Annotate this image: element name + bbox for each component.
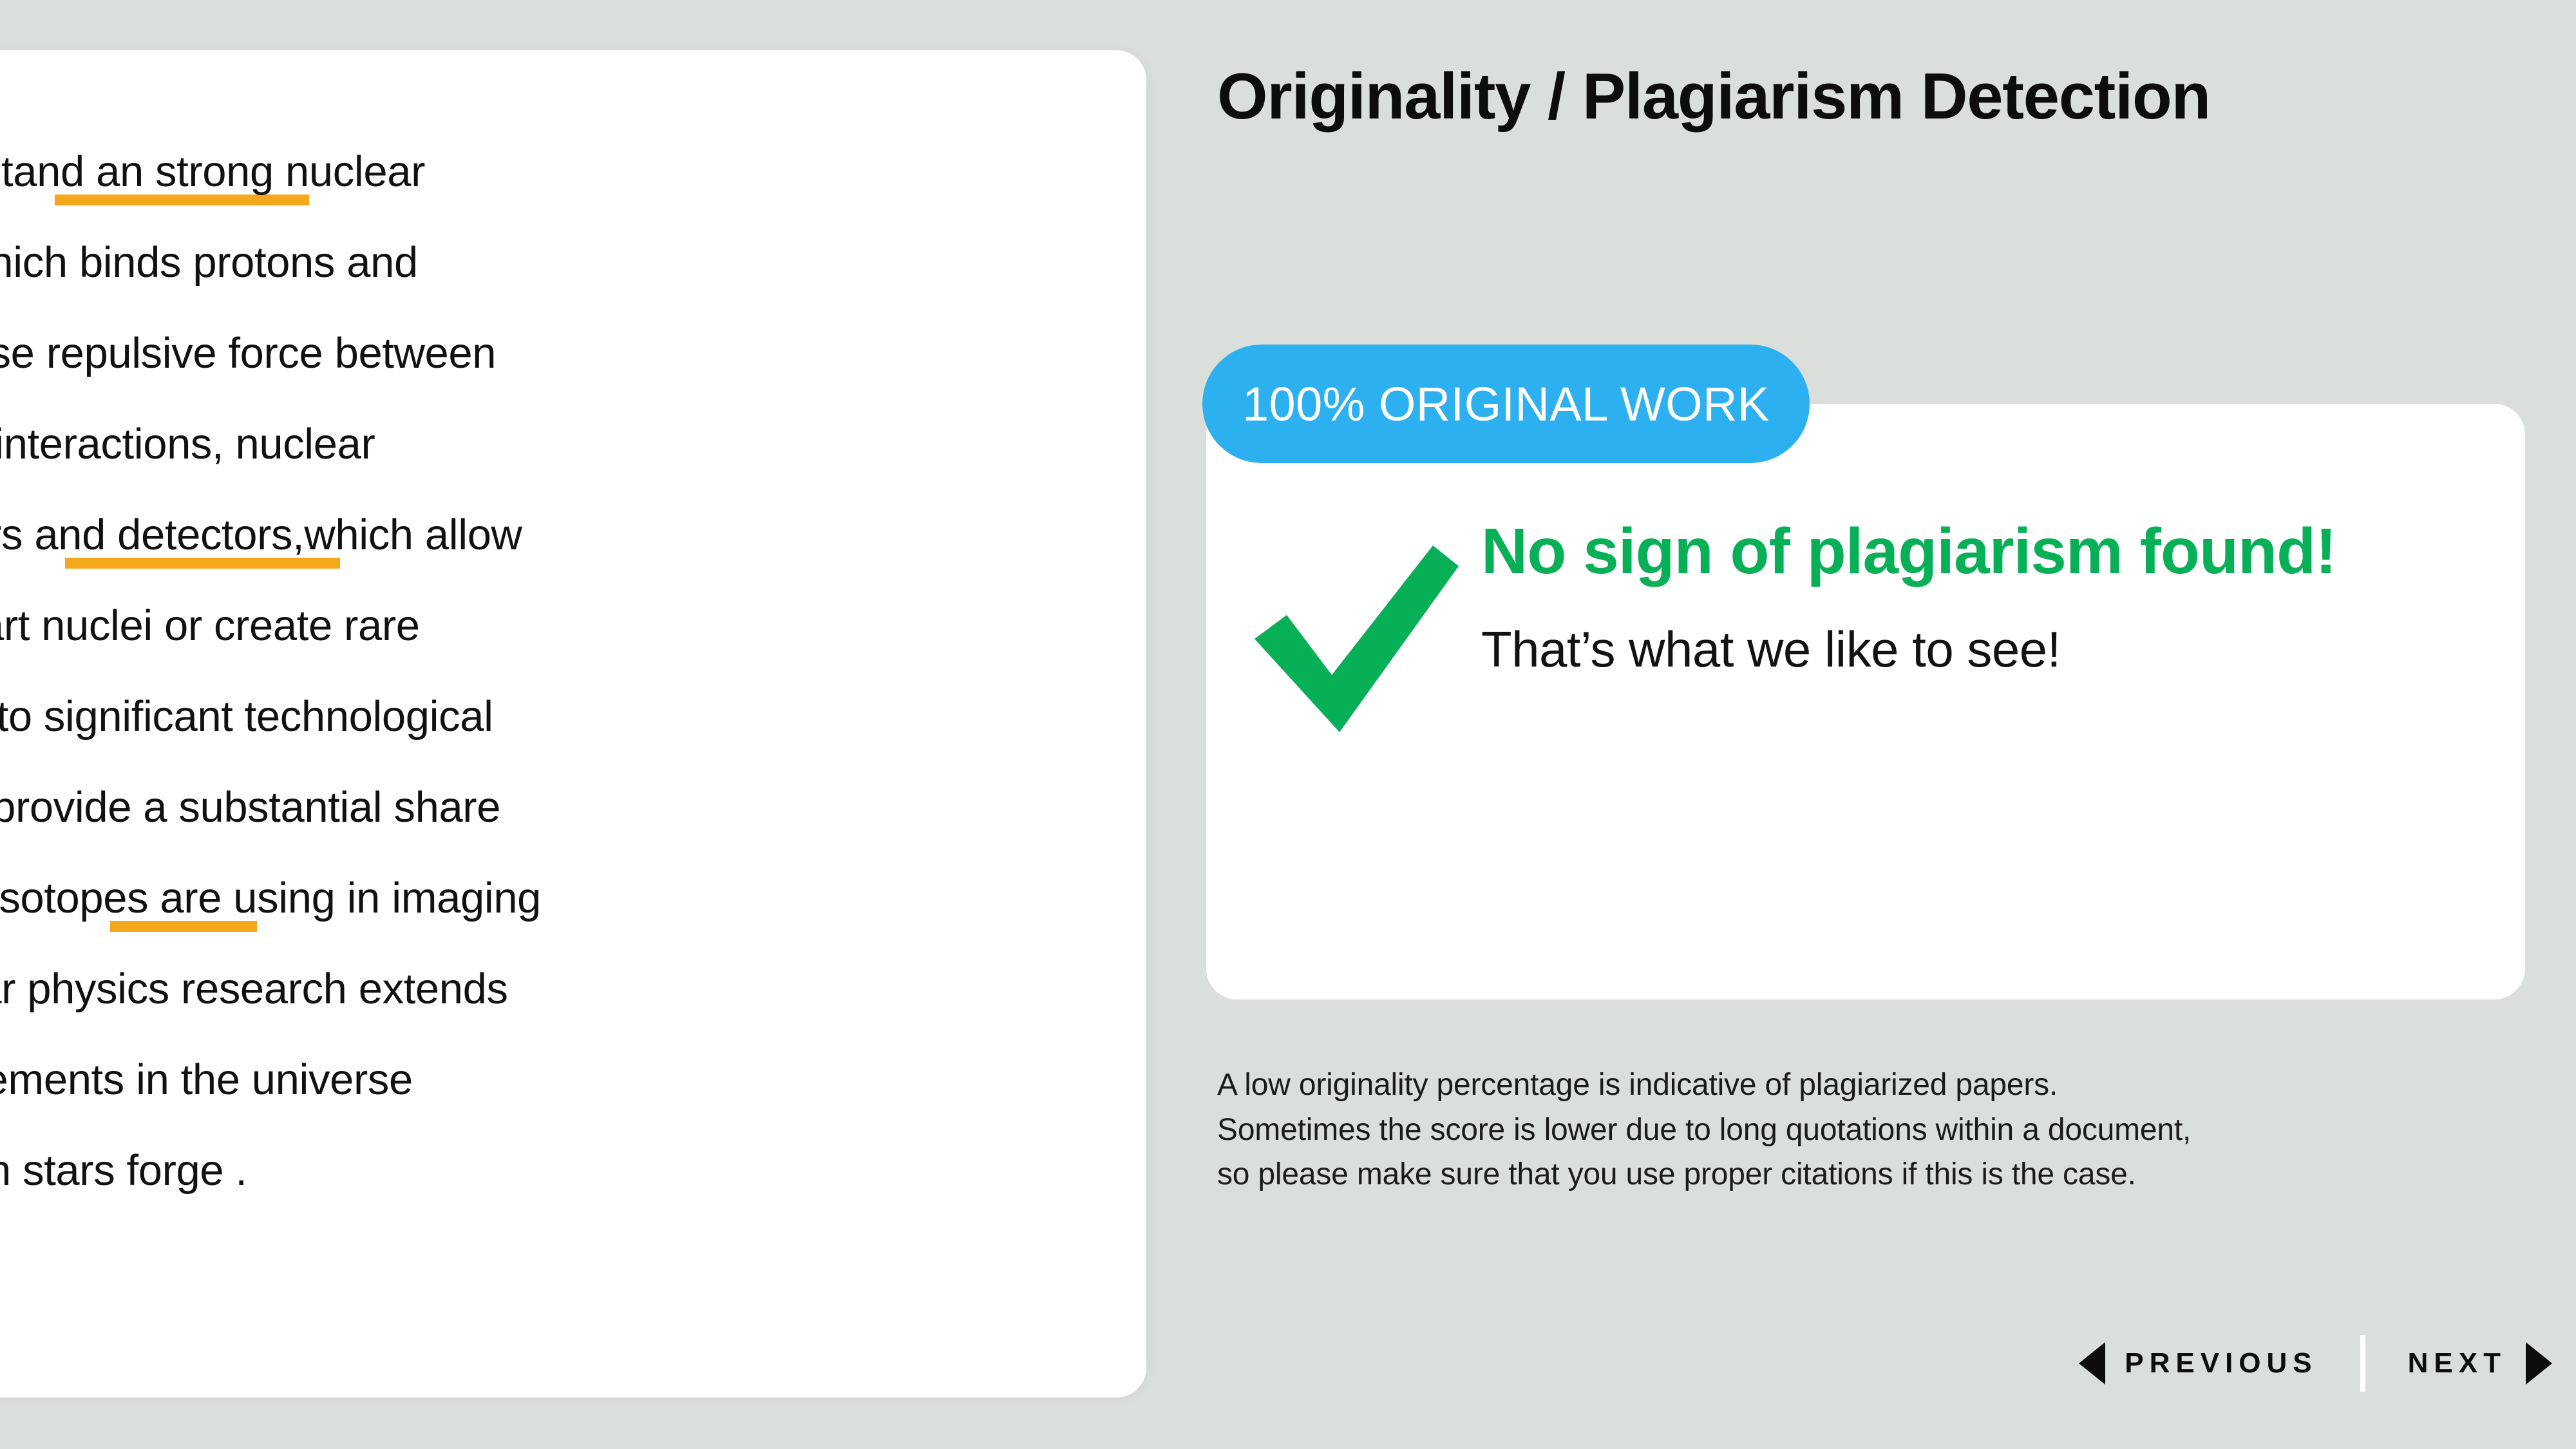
document-text-block: s to understand an strong nuclear f natu… bbox=[0, 50, 1143, 1216]
document-line: t break apart nuclei or create rare bbox=[0, 580, 1143, 671]
document-line-text: ore, nuclear physics research extends bbox=[0, 965, 508, 1013]
page-title: Originality / Plagiarism Detection bbox=[1217, 58, 2312, 136]
document-preview-card: s to understand an strong nuclear f natu… bbox=[0, 50, 1146, 1397]
green-checkmark-icon bbox=[1230, 509, 1481, 735]
result-headline: No sign of plagiarism found! bbox=[1481, 514, 2518, 589]
note-line: Sometimes the score is lower due to long… bbox=[1217, 1108, 2544, 1153]
originality-result-panel: Originality / Plagiarism Detection 100% … bbox=[1217, 0, 2576, 1449]
document-line: e the intense repulsive force between bbox=[0, 308, 1143, 399]
next-button[interactable]: NEXT bbox=[2408, 1342, 2552, 1385]
plagiarism-highlight bbox=[65, 558, 340, 569]
document-line: s have led to significant technological bbox=[0, 671, 1143, 762]
document-line-text: f nature, which binds protons and bbox=[0, 238, 418, 287]
originality-note: A low originality percentage is indicati… bbox=[1217, 1063, 2544, 1197]
triangle-right-icon bbox=[2526, 1342, 2552, 1385]
document-line-text: rigins of elements in the universe bbox=[0, 1056, 413, 1104]
document-line: s complex interactions, nuclear bbox=[0, 399, 1143, 489]
document-line: ore, nuclear physics research extends bbox=[0, 943, 1143, 1034]
document-line: ne, where isotopes are using in imaging bbox=[0, 853, 1143, 943]
plagiarism-highlight bbox=[110, 921, 257, 932]
note-line: so please make sure that you use proper … bbox=[1217, 1152, 2544, 1197]
result-text-block: No sign of plagiarism found! That’s what… bbox=[1481, 509, 2518, 679]
document-line: rigins of elements in the universe bbox=[0, 1034, 1143, 1125]
document-line: f nature, which binds protons and bbox=[0, 217, 1143, 308]
document-line-text: ne, where isotopes are using in imaging bbox=[0, 874, 541, 922]
document-line-text: accelerators and detectors,which allow bbox=[0, 511, 522, 559]
pagination-nav: PREVIOUS NEXT bbox=[2079, 1334, 2552, 1392]
nav-divider bbox=[2360, 1335, 2365, 1392]
result-subtext: That’s what we like to see! bbox=[1481, 620, 2518, 679]
next-button-label: NEXT bbox=[2408, 1347, 2506, 1379]
result-body: No sign of plagiarism found! That’s what… bbox=[1230, 509, 2518, 735]
document-line: nts, which provide a substantial share bbox=[0, 762, 1143, 853]
previous-button[interactable]: PREVIOUS bbox=[2079, 1342, 2317, 1385]
triangle-left-icon bbox=[2079, 1342, 2105, 1385]
status-badge: 100% ORIGINAL WORK bbox=[1202, 345, 1810, 463]
document-line-text: nts, which provide a substantial share bbox=[0, 783, 500, 831]
document-line-text: ss by which stars forge . bbox=[0, 1146, 247, 1195]
document-line: ss by which stars forge . bbox=[0, 1125, 1143, 1216]
document-line-text: t break apart nuclei or create rare bbox=[0, 601, 420, 650]
document-line-text: s complex interactions, nuclear bbox=[0, 420, 375, 468]
document-line-text: e the intense repulsive force between bbox=[0, 329, 496, 377]
document-line: accelerators and detectors,which allow bbox=[0, 489, 1143, 580]
document-line: s to understand an strong nuclear bbox=[0, 126, 1143, 217]
plagiarism-highlight bbox=[55, 194, 309, 205]
document-line-text: s to understand an strong nuclear bbox=[0, 147, 425, 196]
status-badge-label: 100% ORIGINAL WORK bbox=[1242, 377, 1770, 431]
document-line-text: s have led to significant technological bbox=[0, 692, 493, 741]
note-line: A low originality percentage is indicati… bbox=[1217, 1063, 2544, 1108]
previous-button-label: PREVIOUS bbox=[2125, 1347, 2317, 1379]
